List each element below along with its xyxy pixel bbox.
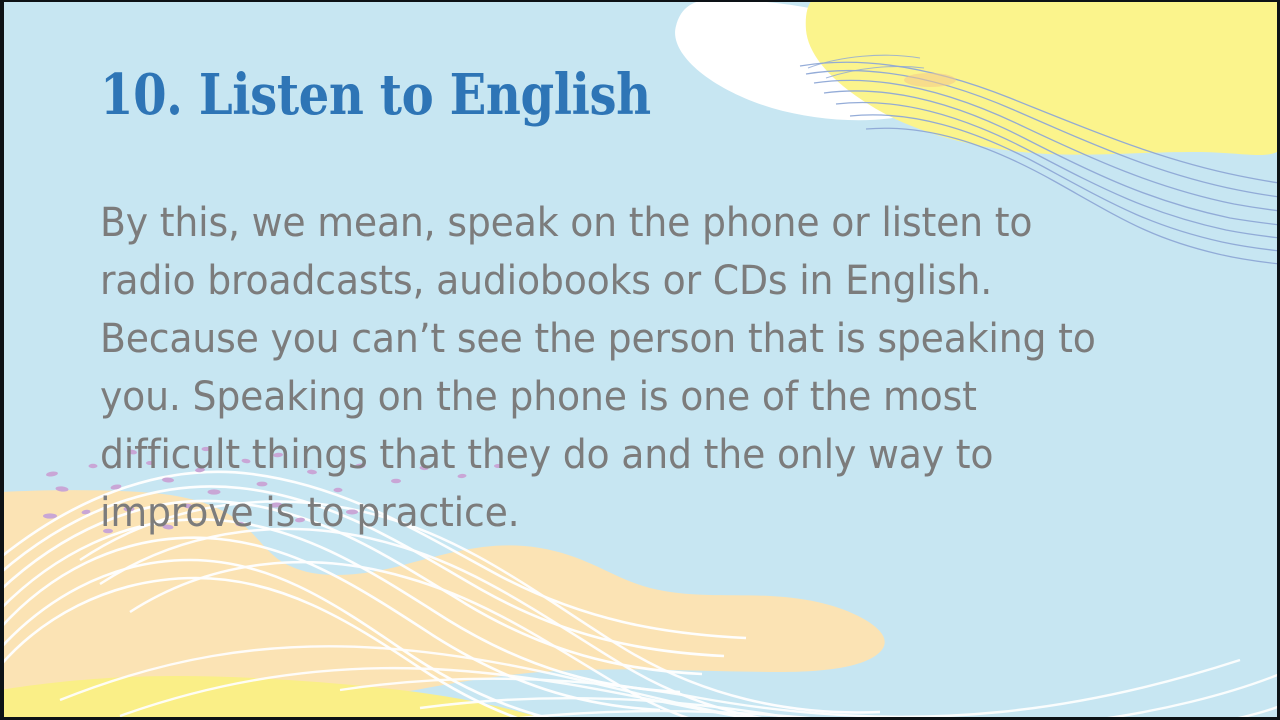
- slide-canvas: 10. Listen to English By this, we mean, …: [0, 0, 1280, 720]
- slide-content: 10. Listen to English By this, we mean, …: [0, 0, 1280, 720]
- slide-title: 10. Listen to English: [100, 66, 651, 125]
- slide-body-text: By this, we mean, speak on the phone or …: [100, 194, 1116, 542]
